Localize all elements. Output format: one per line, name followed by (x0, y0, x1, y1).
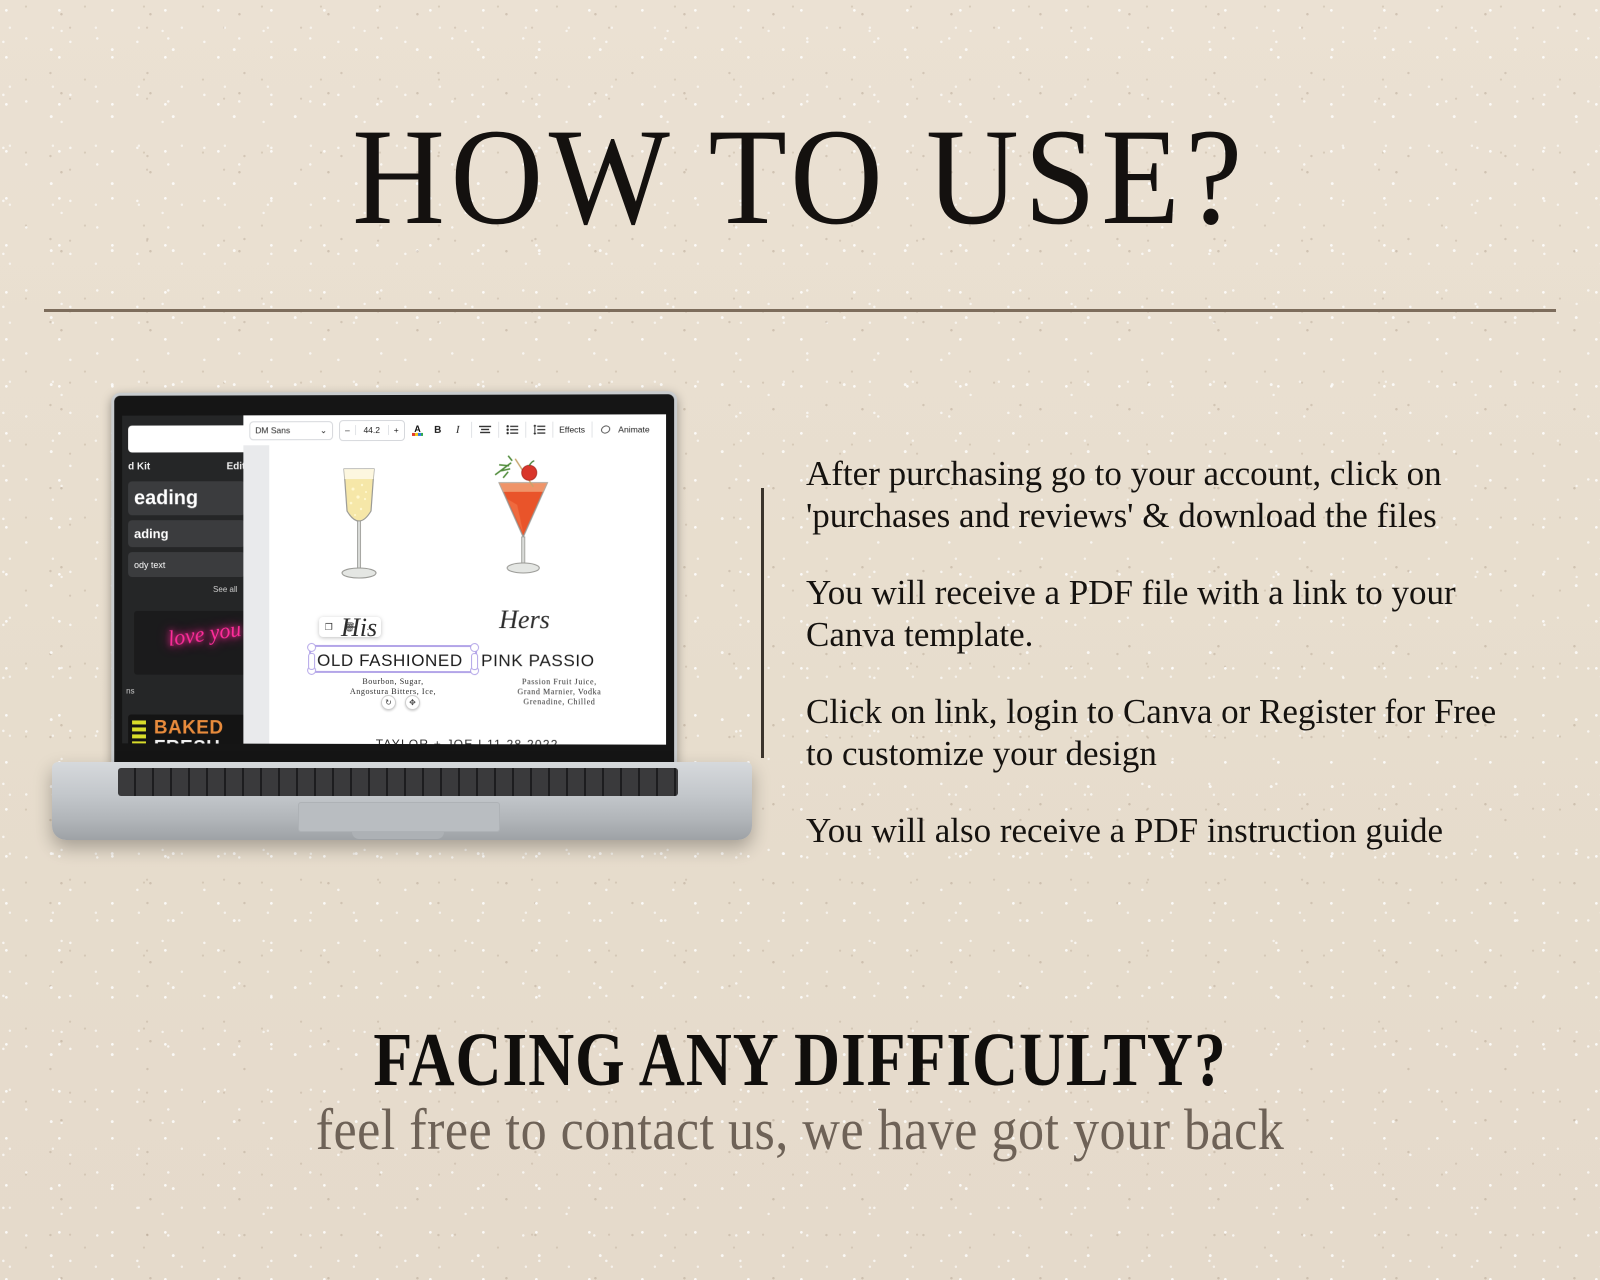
laptop-screen: d Kit Edit eading ading ody text See all… (122, 414, 666, 744)
toolbar-divider (591, 422, 592, 438)
laptop-lid: d Kit Edit eading ading ody text See all… (111, 391, 677, 771)
effects-button[interactable]: Effects (559, 425, 585, 435)
pink-passion-cocktail-illustration (481, 453, 565, 603)
toolbar-divider (525, 422, 526, 438)
instruction-item-3: Click on link, login to Canva or Registe… (806, 691, 1516, 775)
baked-line-2: FRESH (154, 738, 224, 744)
move-handle-icon[interactable]: ✥ (405, 695, 420, 710)
canva-canvas-gutter (243, 445, 269, 743)
style-chip-heading[interactable]: eading (128, 481, 245, 515)
italic-label: I (456, 424, 460, 436)
style-chip-subheading-label: ading (134, 526, 168, 541)
font-size-decrease-button[interactable]: – (340, 425, 355, 435)
hers-script-label: Hers (499, 605, 550, 635)
ingredients-old-fashioned: Bourbon, Sugar, Angostura Bitters, Ice, (311, 677, 475, 697)
selection-handle-tr[interactable] (470, 643, 479, 652)
drink-name-old-fashioned[interactable]: OLD FASHIONED (317, 651, 463, 671)
toolbar-divider (471, 422, 472, 438)
font-size-value[interactable]: 44.2 (355, 425, 389, 435)
instruction-item-4: You will also receive a PDF instruction … (806, 810, 1516, 852)
laptop-mockup: d Kit Edit eading ading ody text See all… (52, 392, 752, 844)
canva-editor-main: DM Sans ⌄ – 44.2 + A (243, 414, 666, 744)
chevron-down-icon: ⌄ (320, 425, 327, 436)
text-align-icon[interactable] (478, 425, 492, 435)
instructions-list: After purchasing go to your account, cli… (806, 418, 1516, 880)
baked-line-1: BAKED (154, 719, 224, 739)
animate-icon[interactable] (598, 423, 612, 435)
canva-sidebar: d Kit Edit eading ading ody text See all… (122, 415, 243, 743)
footer-heading: FACING ANY DIFFICULTY? (128, 1022, 1472, 1098)
sidebar-search-input[interactable] (128, 425, 247, 452)
selection-handle-tl[interactable] (307, 643, 316, 652)
text-color-icon[interactable]: A (411, 423, 425, 437)
toolbar-divider (498, 422, 499, 438)
line-spacing-icon[interactable] (532, 425, 546, 435)
bullet-list-icon[interactable] (505, 425, 519, 435)
baked-fresh-text: BAKED FRESH (154, 719, 224, 745)
his-script-label: His (341, 613, 377, 643)
laptop-base (52, 762, 752, 840)
bold-label: B (434, 424, 441, 435)
bold-button[interactable]: B (431, 424, 445, 435)
brand-kit-label: d Kit (128, 461, 150, 472)
champagne-glass-illustration (317, 459, 401, 609)
page-title: HOW TO USE? (56, 108, 1544, 246)
selection-handle-right[interactable] (471, 653, 478, 670)
font-family-value: DM Sans (255, 425, 290, 435)
sidebar-section-label: ns (126, 687, 134, 696)
instructions-vertical-rule (761, 488, 764, 758)
brand-kit-header: d Kit Edit (128, 461, 245, 472)
rotate-handle-icon[interactable]: ↻ (381, 695, 396, 710)
instruction-item-1: After purchasing go to your account, cli… (806, 453, 1516, 537)
laptop-trackpad (298, 802, 500, 832)
italic-button[interactable]: I (451, 424, 465, 436)
drink-name-pink-passion[interactable]: PINK PASSIO (481, 651, 595, 671)
style-chip-heading-label: eading (134, 487, 198, 510)
title-divider-rule (44, 309, 1556, 312)
style-chip-body-label: ody text (134, 560, 165, 570)
ingredients-pink-passion: Passion Fruit Juice, Grand Marnier, Vodk… (475, 677, 644, 707)
neon-template-card[interactable]: love you (134, 611, 245, 675)
instruction-item-2: You will receive a PDF file with a link … (806, 572, 1516, 656)
neon-text-graphic: love you (166, 616, 242, 652)
font-size-increase-button[interactable]: + (389, 425, 404, 435)
svg-text:A: A (414, 424, 421, 434)
footer-subheading: feel free to contact us, we have got you… (80, 1100, 1520, 1161)
baked-fresh-template-card[interactable]: BAKED FRESH (128, 714, 245, 744)
canva-text-toolbar: DM Sans ⌄ – 44.2 + A (243, 414, 666, 445)
laptop-keyboard (118, 768, 678, 796)
toolbar-divider (552, 422, 553, 438)
style-chip-subheading[interactable]: ading (128, 520, 245, 547)
animate-button[interactable]: Animate (618, 424, 649, 434)
barcode-graphic (132, 720, 146, 744)
canva-canvas[interactable]: ❐ 🗑 … His Hers (269, 444, 666, 744)
font-family-select[interactable]: DM Sans ⌄ (249, 421, 333, 440)
selection-handle-left[interactable] (308, 653, 315, 670)
laptop-base-notch (352, 832, 444, 839)
couple-date-line: TAYLOR + JOE I 11.28.2022 (269, 737, 666, 745)
copy-icon[interactable]: ❐ (325, 621, 333, 632)
see-all-link[interactable]: See all (213, 585, 237, 594)
style-chip-body-text[interactable]: ody text (128, 552, 245, 577)
font-size-stepper[interactable]: – 44.2 + (339, 419, 405, 440)
